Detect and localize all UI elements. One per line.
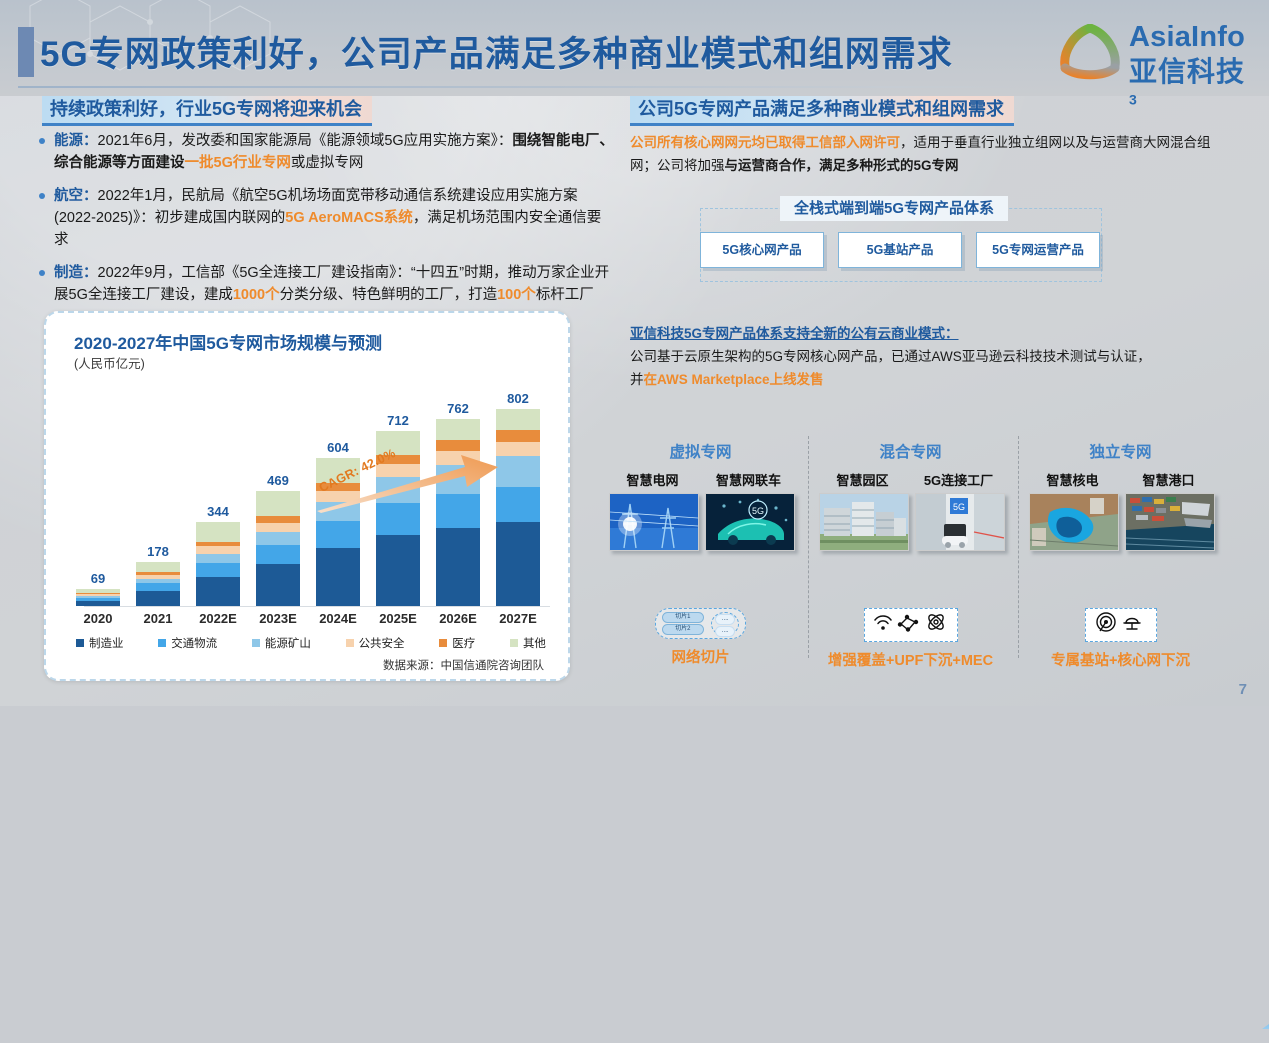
scenario-title: 虚拟专网 [598,440,803,462]
list-item: 智慧网联车 5G [705,470,793,551]
bar-value-label: 469 [267,473,289,488]
bar-value-label: 802 [507,391,529,406]
svg-text:5G: 5G [952,502,964,512]
bar-value-label: 762 [447,401,469,416]
bar-segment-制造业 [436,528,480,606]
legend-swatch [346,639,354,647]
bar-stack [256,491,300,606]
legend-label: 医疗 [452,635,475,651]
scenario-standalone-private-network: 独立专网 智慧核电 智慧港口 [1018,440,1223,551]
smart-campus-image [820,494,908,550]
bar-segment-其他 [256,491,300,516]
bar-value-label: 712 [387,413,409,428]
x-tick-label: 2027E [488,611,548,626]
public-cloud-block: 亚信科技5G专网产品体系支持全新的公有云商业模式： 公司基于云原生架构的5G专网… [630,322,1230,391]
legend-item: 能源矿山 [252,635,311,651]
chart-subtitle: (人民币亿元) [74,353,145,372]
legend-item: 公共安全 [346,635,405,651]
slice-pill-4: .... [715,626,735,637]
wifi-mesh-atom-icon [864,608,958,642]
bullet-key: 制造 [54,265,83,281]
x-axis-line [84,606,550,607]
bar-segment-交通物流 [496,487,540,523]
scenario-2-tech: 增强覆盖+UPF下沉+MEC [808,608,1013,670]
cloud-line-2-prefix: 并 [630,372,644,387]
bar-stack [496,409,540,606]
scenario-cards: 智慧核电 智慧港口 [1018,470,1223,551]
power-grid-image [610,494,698,550]
bar-column: 69 [68,375,128,606]
bar-segment-能源矿山 [256,532,300,545]
card-label: 5G连接工厂 [915,470,1003,489]
bar-segment-医疗 [436,440,480,451]
legend-swatch [158,639,166,647]
asiainfo-ring-icon [1059,24,1121,80]
scenario-cards: 智慧电网 [598,470,803,551]
x-tick-label: 2022E [188,611,248,626]
product-button[interactable]: 5G核心网产品 [700,232,824,268]
slice-pill-3: .... [715,614,735,625]
x-tick-label: 2024E [308,611,368,626]
slice-pill-2: 切片2 [662,624,704,635]
product-system-title: 全栈式端到端5G专网产品体系 [780,196,1008,221]
legend-item: 医疗 [439,635,475,651]
x-tick-label: 2020 [68,611,128,626]
product-button-row: 5G核心网产品5G基站产品5G专网运营产品 [700,232,1100,268]
x-tick-label: 2025E [368,611,428,626]
bar-stack [76,589,120,606]
list-item: 智慧港口 [1125,470,1213,551]
product-button[interactable]: 5G基站产品 [838,232,962,268]
bar-segment-公共安全 [256,523,300,533]
legend-label: 交通物流 [171,635,217,651]
bar-segment-交通物流 [316,521,360,548]
bullet-key: 能源 [54,133,83,149]
legend-item: 制造业 [76,635,124,651]
legend-swatch [252,639,260,647]
slide-canvas: 5G专网政策利好，公司产品满足多种商业模式和组网需求 AsiaInfo 亚信科技 [0,0,1269,706]
cagr-annotation: CAGR: 42.0% [315,451,500,515]
smart-factory-image: 5G [916,494,1004,550]
smart-factory-photo: 5G [915,493,1005,551]
bar-segment-医疗 [256,516,300,523]
base-station-core-icon [1085,608,1157,642]
bullet-highlight: 5G AeroMACS系统 [285,210,413,226]
legend-label: 其他 [523,635,546,651]
bullet-text: 2021年6月，发改委和国家能源局《能源领域5G应用实施方案》： [98,133,513,149]
x-tick-label: 2023E [248,611,308,626]
bullet-highlight-2: 100个 [497,287,536,303]
connected-car-image: 5G [706,494,794,550]
card-label: 智慧核电 [1029,470,1117,489]
bullet-text-3: 标杆工厂 [536,287,594,303]
market-forecast-chart-card: 2020-2027年中国5G专网市场规模与预测 (人民币亿元) 69178344… [44,311,570,681]
tech-caption: 专属基站+核心网下沉 [1018,649,1223,670]
legend-label: 制造业 [89,635,124,651]
legend-item: 交通物流 [158,635,217,651]
asiainfo-logo: AsiaInfo 亚信科技 3 [1059,20,1259,84]
scenario-1-tech: 切片1 切片2 .... .... 网络切片 [598,608,803,667]
bar-segment-其他 [136,562,180,572]
bar-segment-公共安全 [496,442,540,456]
cloud-heading: 亚信科技5G专网产品体系支持全新的公有云商业模式： [630,322,1230,345]
legend-label: 公共安全 [359,635,405,651]
page-number: 7 [1239,681,1247,698]
scenario-title: 混合专网 [808,440,1013,462]
slice-pill-1: 切片1 [662,612,704,623]
bar-value-label: 69 [91,571,105,586]
cloud-line-2-highlight: 在AWS Marketplace上线发售 [644,372,824,387]
chart-source: 数据来源：中国信通院咨询团队 [383,657,544,673]
bar-segment-公共安全 [196,546,240,554]
tech-icons-group [1094,612,1148,632]
bar-value-label: 344 [207,504,229,519]
bar-segment-医疗 [496,430,540,442]
bullet-key: 航空 [54,188,83,204]
network-slice-icon: 切片1 切片2 .... .... [655,608,746,639]
legend-label: 能源矿山 [265,635,311,651]
svg-text:5G: 5G [751,506,763,516]
para-highlight: 公司所有核心网网元均已取得工信部入网许可 [630,135,900,150]
list-item: 制造：2022年9月，工信部《5G全连接工厂建设指南》：“十四五”时期，推动万家… [30,262,615,306]
list-item: 能源：2021年6月，发改委和国家能源局《能源领域5G应用实施方案》：围绕智能电… [30,130,615,174]
bar-segment-其他 [436,419,480,440]
bar-column: 469 [248,375,308,606]
x-tick-label: 2021 [128,611,188,626]
legend-swatch [510,639,518,647]
cloud-line-2: 并在AWS Marketplace上线发售 [630,368,1230,391]
policy-bullet-list: 能源：2021年6月，发改委和国家能源局《能源领域5G应用实施方案》：围绕智能电… [30,130,615,317]
bar-segment-交通物流 [136,583,180,590]
scenario-hybrid-private-network: 混合专网 智慧园区 [808,440,1013,551]
bar-column: 178 [128,375,188,606]
bar-stack [196,522,240,606]
nuclear-plant-photo [1029,493,1119,551]
bar-value-label: 178 [147,544,169,559]
smart-campus-photo [819,493,909,551]
bar-segment-制造业 [256,564,300,606]
legend-item: 其他 [510,635,546,651]
chart-title: 2020-2027年中国5G专网市场规模与预测 [74,329,382,354]
cloud-line-1: 公司基于云原生架构的5G专网核心网产品，已通过AWS亚马逊云科技技术测试与认证， [630,345,1230,368]
scenario-cards: 智慧园区 5 [808,470,1013,551]
nuclear-plant-image [1030,494,1118,550]
list-item: 5G连接工厂 5G [915,470,1003,551]
card-label: 智慧港口 [1125,470,1213,489]
power-grid-photo [609,493,699,551]
bullet-highlight: 1000个 [233,287,280,303]
bullet-highlight: 一批5G行业专网 [185,155,291,171]
right-section-header: 公司5G专网产品满足多种商业模式和组网需求 [630,96,1014,126]
bar-segment-制造业 [196,577,240,606]
bar-segment-能源矿山 [496,456,540,487]
tech-icons-group [873,612,949,632]
logo-sup: 3 [1129,92,1138,108]
bar-segment-其他 [496,409,540,430]
bullet-text-2: 或虚拟专网 [291,155,364,171]
scenario-virtual-private-network: 虚拟专网 智慧电网 [598,440,803,551]
card-label: 智慧园区 [819,470,907,489]
list-item: 智慧电网 [609,470,697,551]
bar-segment-制造业 [136,591,180,606]
x-tick-label: 2026E [428,611,488,626]
tech-caption: 网络切片 [598,646,803,667]
smart-port-photo [1125,493,1215,551]
left-section-header: 持续政策利好，行业5G专网将迎来机会 [42,96,372,126]
legend-swatch [439,639,447,647]
core-network-paragraph: 公司所有核心网网元均已取得工信部入网许可，适用于垂直行业独立组网以及与运营商大网… [630,131,1230,177]
chart-legend: 制造业交通物流能源矿山公共安全医疗其他 [76,635,546,651]
title-divider [18,86,1044,88]
bar-segment-制造业 [376,535,420,606]
card-label: 智慧电网 [609,470,697,489]
list-item: 智慧园区 [819,470,907,551]
title-accent-bar [18,27,34,77]
bar-segment-交通物流 [196,563,240,577]
chart-plot-area: 69178344469604712762802 CAGR: 42.0% [68,375,548,607]
list-item: 智慧核电 [1029,470,1117,551]
legend-swatch [76,639,84,647]
bar-segment-其他 [196,522,240,542]
up-arrow-icon [1262,1003,1269,1043]
scenario-title: 独立专网 [1018,440,1223,462]
list-item: 航空：2022年1月，民航局《航空5G机场场面宽带移动通信系统建设应用实施方案(… [30,185,615,251]
connected-car-photo: 5G [705,493,795,551]
para-bold: 与运营商合作，满足多种形式的5G专网 [725,158,959,173]
logo-cn-label: 亚信科技 [1129,56,1245,87]
bar-segment-交通物流 [256,545,300,564]
scenario-3-tech: 专属基站+核心网下沉 [1018,608,1223,670]
bar-segment-制造业 [316,548,360,606]
bar-stack [136,562,180,606]
bullet-sep: ： [83,133,98,149]
x-axis-labels: 202020212022E2023E2024E2025E2026E2027E [68,611,548,626]
page-title: 5G专网政策利好，公司产品满足多种商业模式和组网需求 [40,26,953,77]
bar-segment-能源矿山 [196,554,240,563]
bar-segment-制造业 [496,522,540,606]
card-label: 智慧网联车 [705,470,793,489]
tech-caption: 增强覆盖+UPF下沉+MEC [808,649,1013,670]
smart-port-image [1126,494,1214,550]
bar-column: 344 [188,375,248,606]
bullet-sep: ： [83,265,98,281]
bullet-sep: ： [83,188,98,204]
product-button[interactable]: 5G专网运营产品 [976,232,1100,268]
logo-cn-text: 亚信科技 3 [1129,50,1259,122]
bullet-text-2: 分类分级、特色鲜明的工厂，打造 [280,287,498,303]
